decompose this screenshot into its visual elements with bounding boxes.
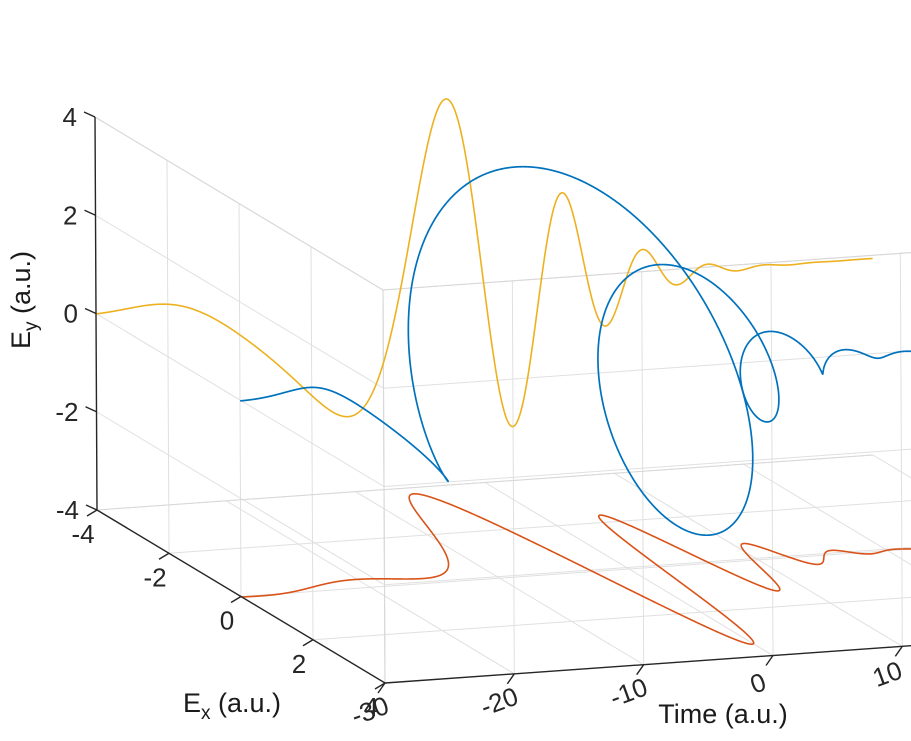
tick-ey bbox=[86, 505, 97, 510]
tick-label-ex-2: 2 bbox=[292, 649, 306, 679]
tick-label-ey-2: 2 bbox=[63, 200, 77, 230]
tick-ex bbox=[159, 553, 169, 559]
tick-ey bbox=[86, 407, 97, 412]
tick-time bbox=[895, 646, 902, 656]
ex-projection-curve bbox=[242, 494, 911, 644]
grid-rightwall-z bbox=[383, 235, 911, 290]
axis-title-ex: Ex (a.u.) bbox=[183, 688, 281, 724]
grid-floor-x bbox=[385, 628, 911, 683]
tick-ey bbox=[85, 309, 96, 314]
grid-floor-t bbox=[226, 501, 514, 674]
grid-rightwall-z bbox=[385, 628, 911, 683]
tick-label-ey-0: 0 bbox=[64, 299, 78, 329]
tick-time bbox=[766, 656, 773, 666]
grid-floor-t bbox=[485, 483, 773, 656]
tick-label-time-0: 0 bbox=[746, 666, 770, 699]
grid-floor-t bbox=[873, 455, 911, 628]
tick-ey bbox=[84, 112, 95, 117]
ey-projection-curve bbox=[96, 99, 872, 427]
tick-label-ex--4: -4 bbox=[71, 519, 94, 549]
axis-title-ey-sub: y bbox=[21, 321, 42, 331]
axis-title-ey: Ey (a.u.) bbox=[6, 251, 42, 349]
tick-ex bbox=[303, 640, 313, 646]
tick-ex bbox=[87, 510, 97, 516]
tick-label-time-10: 10 bbox=[869, 655, 906, 693]
tick-label-time--20: -20 bbox=[476, 681, 522, 722]
grid-floor-x bbox=[241, 542, 911, 597]
axis-title-time: Time (a.u.) bbox=[658, 699, 788, 729]
tick-ey bbox=[85, 210, 96, 215]
tick-label-ey-4: 4 bbox=[63, 102, 77, 132]
axis-title-ex-main: E bbox=[183, 688, 201, 718]
axis-title-ey-unit: (a.u.) bbox=[6, 251, 36, 322]
tick-label-time--30: -30 bbox=[347, 690, 393, 731]
grid-floor-x bbox=[313, 585, 911, 640]
tick-label-ex-0: 0 bbox=[220, 606, 234, 636]
axis-title-time-unit: (a.u.) bbox=[717, 699, 788, 729]
axis-title-ex-sub: x bbox=[201, 703, 211, 724]
box-edge-rightwall-top bbox=[383, 235, 911, 290]
grid-floor-t bbox=[614, 473, 902, 646]
grid-rightwall-z bbox=[384, 333, 911, 388]
figure-canvas: -4-2024-4-2024-30-20-100102030Ey (a.u.)E… bbox=[0, 0, 911, 741]
axis-title-ey-main: E bbox=[6, 331, 36, 349]
tick-label-ex--2: -2 bbox=[143, 562, 166, 592]
tick-ex bbox=[231, 597, 241, 603]
tick-label-ey--2: -2 bbox=[55, 397, 78, 427]
field-trajectory-helix bbox=[241, 167, 911, 535]
tick-label-time--10: -10 bbox=[606, 672, 652, 713]
grid-rightwall-z bbox=[384, 432, 911, 487]
axis-line-time bbox=[385, 628, 911, 683]
plot-3d-svg: -4-2024-4-2024-30-20-100102030Ey (a.u.)E… bbox=[0, 0, 911, 741]
axis-title-ex-unit: (a.u.) bbox=[210, 688, 281, 718]
grid-group bbox=[95, 117, 911, 683]
axis-title-time-main: Time bbox=[658, 699, 717, 729]
